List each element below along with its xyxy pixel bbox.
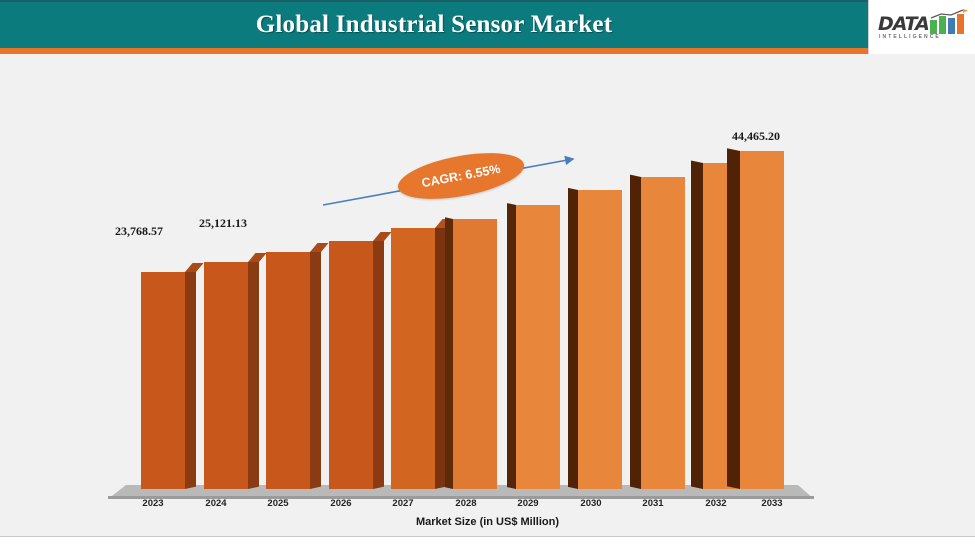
x-tick-2026: 2026 (311, 498, 371, 509)
bar-2033 (740, 151, 784, 489)
chart-infographic: Global Industrial Sensor Market DATA INT… (0, 0, 975, 548)
x-tick-2030: 2030 (561, 498, 621, 509)
bar-chart-plot: 23,768.57 25,121.13 44,465.20 CAGR: 6.55… (0, 0, 975, 548)
bar-2029 (516, 205, 560, 489)
cagr-label: CAGR: 6.55% (420, 162, 501, 190)
x-tick-2032: 2032 (686, 498, 746, 509)
x-tick-2023: 2023 (123, 498, 183, 509)
bar-2024 (204, 262, 248, 489)
x-tick-2024: 2024 (186, 498, 246, 509)
bar-2030 (578, 190, 622, 489)
bar-2023 (141, 272, 185, 489)
bar-2025 (266, 252, 310, 489)
value-label-2033: 44,465.20 (732, 129, 780, 144)
x-tick-2027: 2027 (373, 498, 433, 509)
bar-2031 (641, 177, 685, 489)
x-tick-2031: 2031 (623, 498, 683, 509)
x-tick-2028: 2028 (436, 498, 496, 509)
x-tick-2033: 2033 (742, 498, 802, 509)
x-tick-2025: 2025 (248, 498, 308, 509)
x-axis-title: Market Size (in US$ Million) (0, 516, 975, 528)
bar-2028 (453, 219, 497, 489)
bar-2027 (391, 228, 435, 489)
value-label-2024: 25,121.13 (199, 216, 247, 231)
x-tick-2029: 2029 (498, 498, 558, 509)
bar-2026 (329, 241, 373, 489)
value-label-2023: 23,768.57 (115, 224, 163, 239)
